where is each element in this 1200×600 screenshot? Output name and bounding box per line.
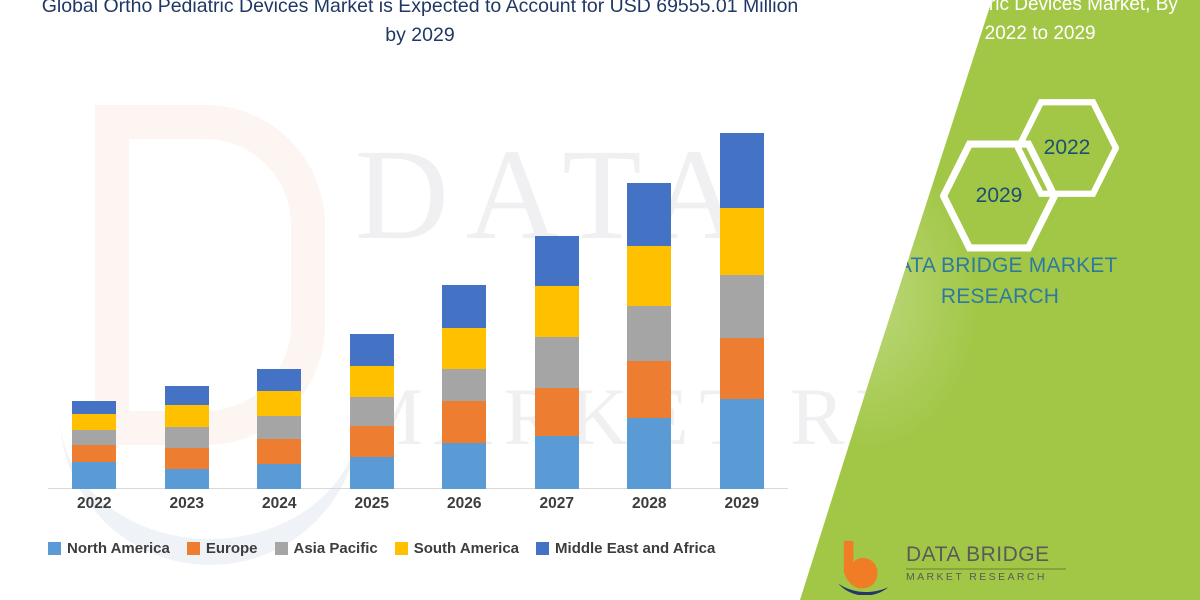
bar-segment[interactable] — [350, 366, 394, 397]
bar-group[interactable] — [442, 285, 486, 489]
legend-label: South America — [414, 540, 519, 557]
legend-label: Middle East and Africa — [555, 540, 715, 557]
bar-segment[interactable] — [720, 133, 764, 208]
legend-item[interactable]: South America — [395, 540, 519, 557]
bar-segment[interactable] — [72, 414, 116, 430]
bar-segment[interactable] — [72, 401, 116, 414]
bar-group[interactable] — [165, 386, 209, 489]
bar-segment[interactable] — [257, 369, 301, 391]
bar-segment[interactable] — [72, 430, 116, 445]
logo-wordmark: DATA BRIDGE — [906, 543, 1050, 567]
logo-divider — [906, 568, 1066, 570]
x-axis-tick: 2028 — [619, 495, 679, 513]
logo-subtitle: MARKET RESEARCH — [906, 571, 1047, 583]
x-axis-tick: 2029 — [712, 495, 772, 513]
bar-segment[interactable] — [442, 443, 486, 489]
bar-segment[interactable] — [627, 361, 671, 418]
company-logo: DATA BRIDGE MARKET RESEARCH — [838, 535, 1138, 595]
x-axis-tick: 2027 — [527, 495, 587, 513]
hexagon-2029-label: 2029 — [976, 184, 1023, 208]
stacked-bar-plot — [48, 100, 788, 489]
bar-segment[interactable] — [165, 427, 209, 448]
legend-item[interactable]: Middle East and Africa — [536, 540, 715, 557]
chart-legend: North AmericaEuropeAsia PacificSouth Ame… — [48, 540, 715, 557]
bar-segment[interactable] — [627, 418, 671, 489]
bar-segment[interactable] — [350, 457, 394, 489]
bar-segment[interactable] — [535, 236, 579, 286]
legend-label: Europe — [206, 540, 258, 557]
legend-item[interactable]: Asia Pacific — [275, 540, 378, 557]
bar-segment[interactable] — [442, 369, 486, 401]
x-axis-tick: 2025 — [342, 495, 402, 513]
legend-swatch-icon — [48, 542, 61, 555]
legend-swatch-icon — [536, 542, 549, 555]
bar-segment[interactable] — [165, 386, 209, 405]
bar-segment[interactable] — [165, 469, 209, 489]
bar-segment[interactable] — [72, 445, 116, 462]
bar-segment[interactable] — [627, 183, 671, 246]
bar-segment[interactable] — [257, 439, 301, 464]
bar-group[interactable] — [257, 369, 301, 489]
chart-title: Global Ortho Pediatric Devices Market is… — [40, 0, 800, 50]
bar-segment[interactable] — [442, 328, 486, 369]
bar-segment[interactable] — [72, 462, 116, 489]
bar-segment[interactable] — [442, 285, 486, 327]
bar-segment[interactable] — [350, 334, 394, 366]
bar-segment[interactable] — [165, 405, 209, 427]
bar-segment[interactable] — [165, 448, 209, 469]
bar-group[interactable] — [627, 183, 671, 489]
x-axis-labels: 20222023202420252026202720282029 — [48, 495, 788, 521]
hexagon-2022-label: 2022 — [1044, 136, 1091, 160]
bar-segment[interactable] — [350, 397, 394, 426]
bar-segment[interactable] — [627, 306, 671, 360]
x-axis-tick: 2023 — [157, 495, 217, 513]
legend-label: North America — [67, 540, 170, 557]
bar-segment[interactable] — [720, 338, 764, 399]
legend-swatch-icon — [275, 542, 288, 555]
bar-segment[interactable] — [442, 401, 486, 443]
legend-swatch-icon — [187, 542, 200, 555]
legend-label: Asia Pacific — [294, 540, 378, 557]
bar-segment[interactable] — [535, 388, 579, 436]
bar-segment[interactable] — [720, 208, 764, 275]
bar-segment[interactable] — [535, 286, 579, 336]
legend-item[interactable]: Europe — [187, 540, 258, 557]
legend-swatch-icon — [395, 542, 408, 555]
bar-segment[interactable] — [350, 426, 394, 457]
bar-segment[interactable] — [627, 246, 671, 306]
bar-segment[interactable] — [535, 436, 579, 489]
bar-segment[interactable] — [257, 416, 301, 439]
x-axis-tick: 2022 — [64, 495, 124, 513]
bar-segment[interactable] — [720, 399, 764, 489]
chart-panel: DATA MARKET RESEARCH Global Ortho Pediat… — [0, 0, 880, 600]
x-axis-line — [48, 488, 788, 489]
bar-group[interactable] — [720, 133, 764, 489]
data-bridge-logo-icon — [838, 539, 896, 595]
bar-group[interactable] — [535, 236, 579, 489]
bar-segment[interactable] — [535, 337, 579, 388]
hexagon-badge-2022: 2022 — [1015, 96, 1119, 200]
bar-group[interactable] — [72, 401, 116, 489]
bar-segment[interactable] — [257, 391, 301, 416]
bar-segment[interactable] — [720, 275, 764, 337]
legend-item[interactable]: North America — [48, 540, 170, 557]
bar-group[interactable] — [350, 334, 394, 489]
x-axis-tick: 2024 — [249, 495, 309, 513]
bar-segment[interactable] — [257, 464, 301, 489]
x-axis-tick: 2026 — [434, 495, 494, 513]
